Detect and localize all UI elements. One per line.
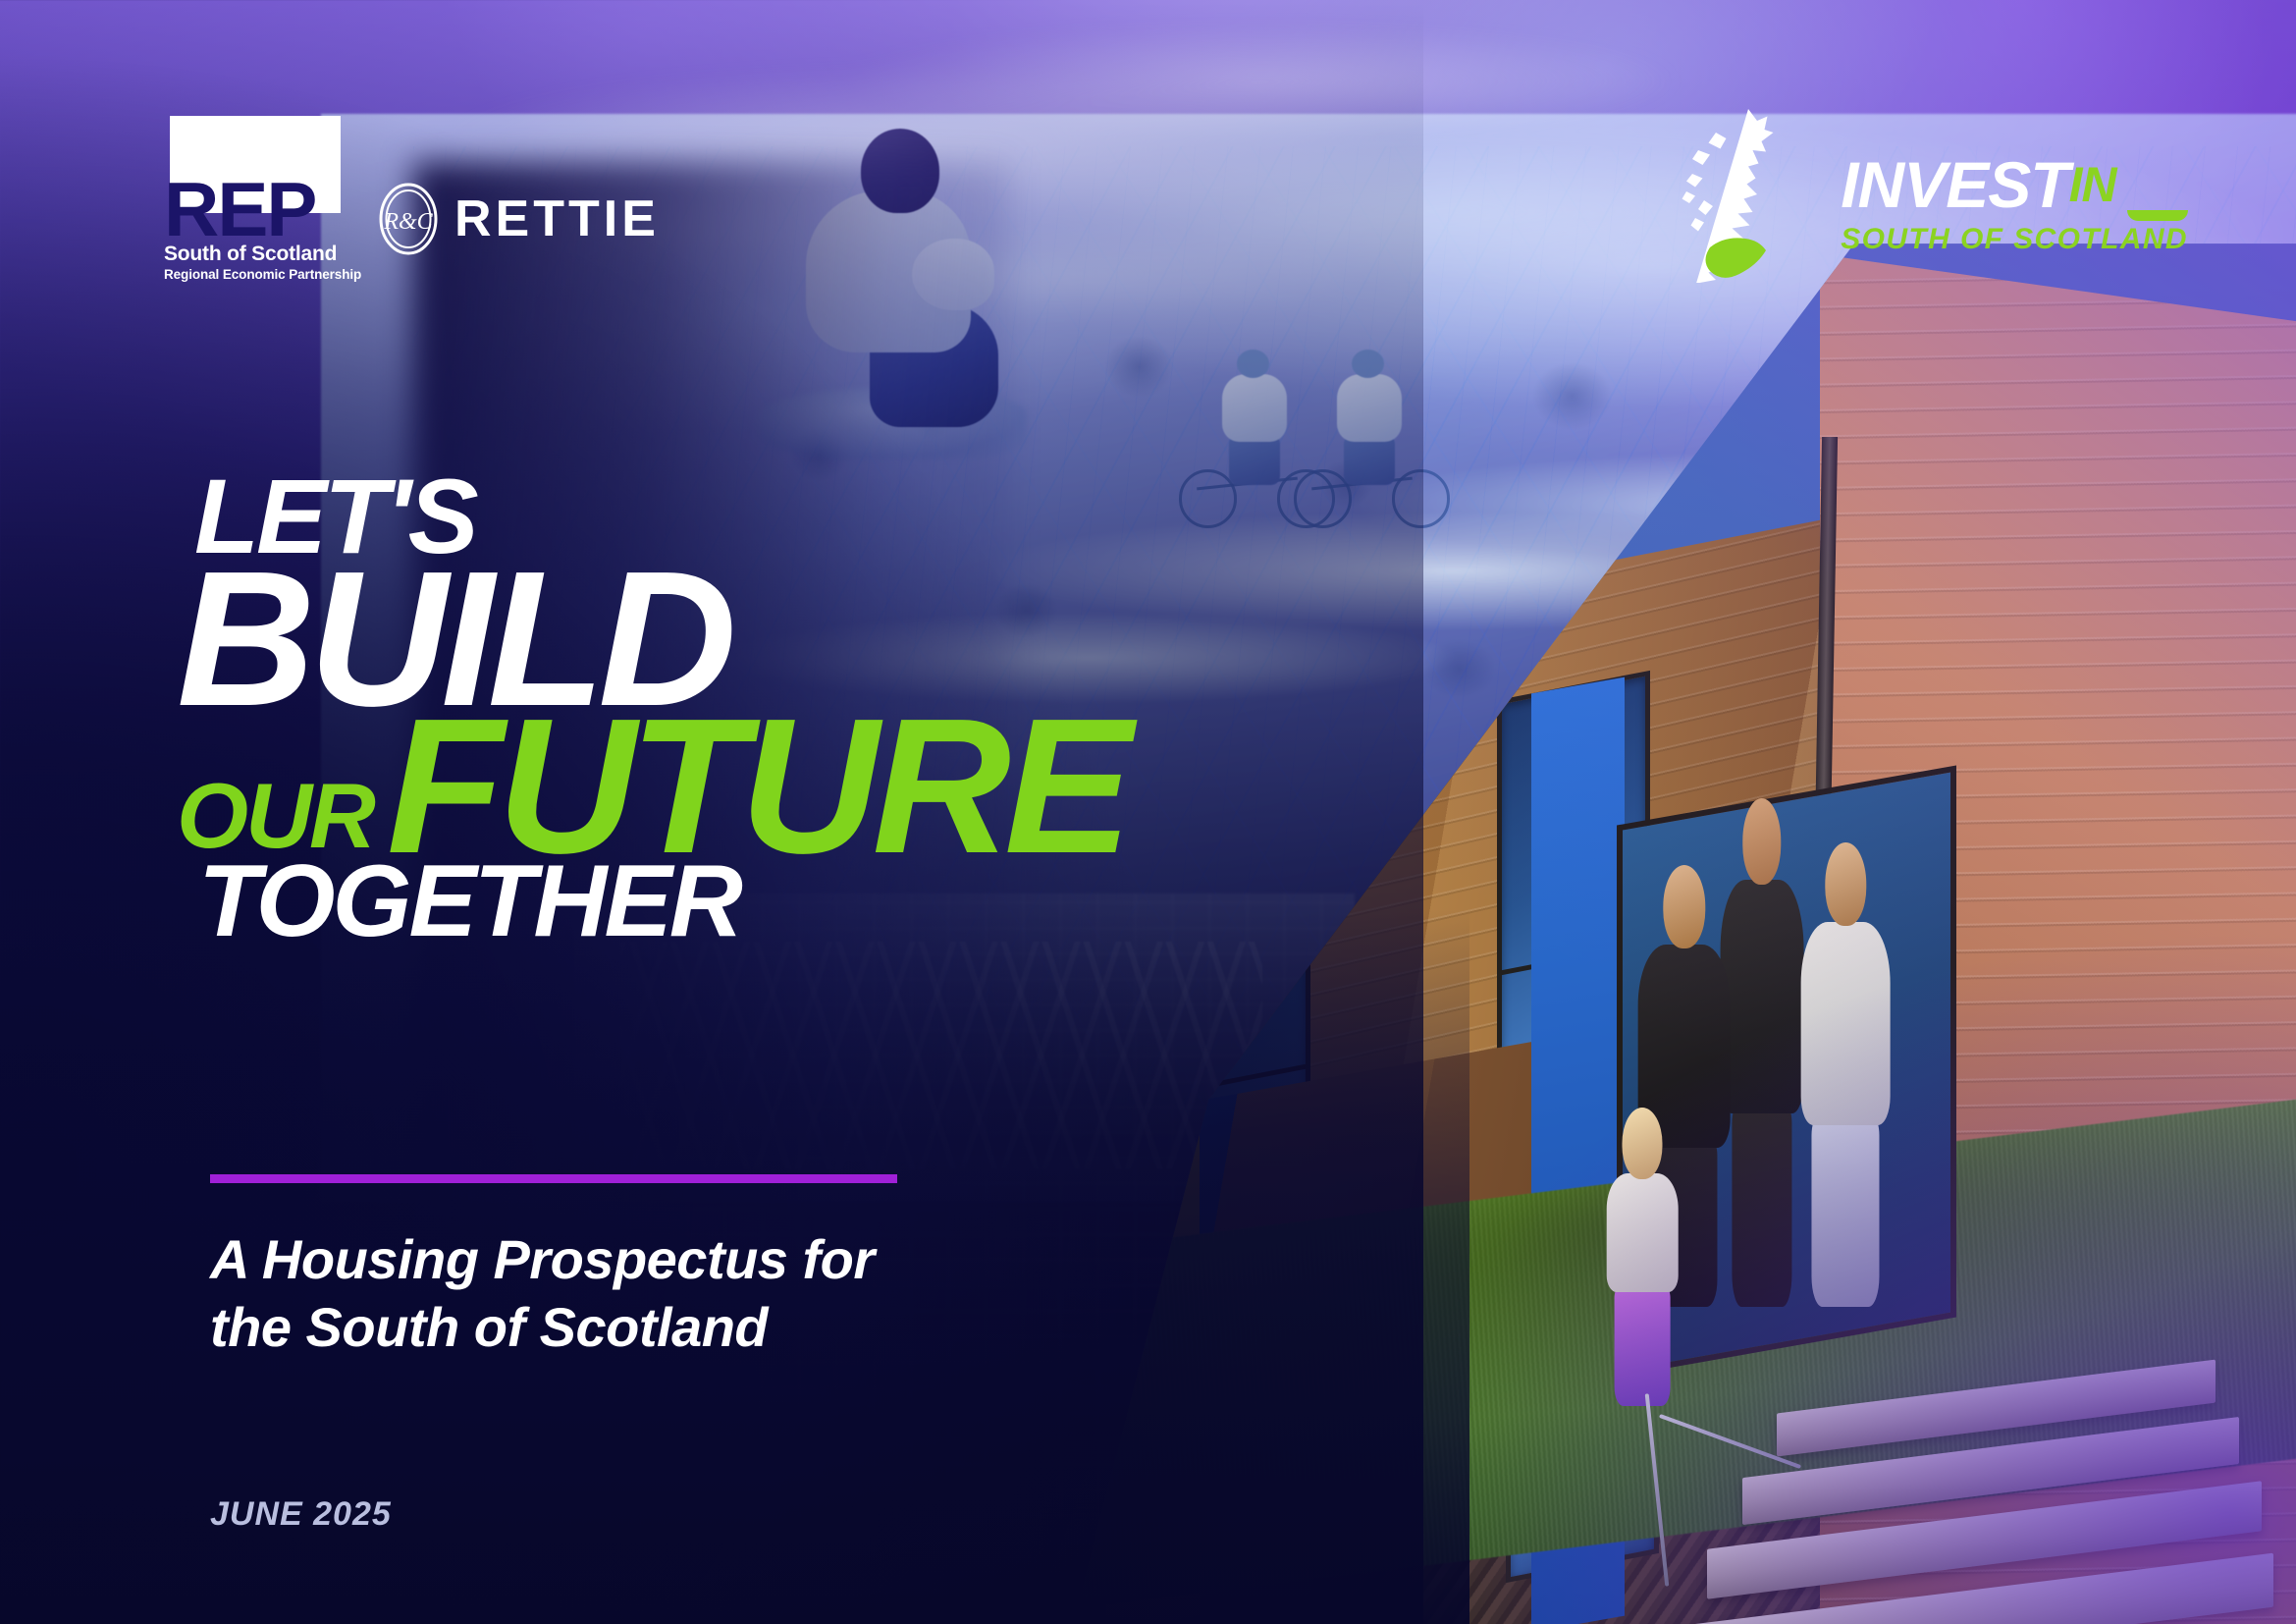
invest-in-logo[interactable]: INVESTIN SOUTH OF SCOTLAND [1672, 106, 2188, 283]
rep-logo[interactable]: REP South of Scotland Regional Economic … [164, 116, 341, 282]
rettie-monogram-icon: R&C [378, 182, 439, 256]
invest-in-tagline: SOUTH OF SCOTLAND [1841, 223, 2188, 256]
rettie-logo[interactable]: R&C RETTIE [378, 182, 660, 256]
page-title: LET'S BUILD OUR FUTURE TOGETHER [177, 471, 1126, 946]
invest-in-primary: INVESTIN [1841, 154, 2188, 216]
rep-logo-line2: Regional Economic Partnership [164, 267, 341, 282]
invest-in-underline-swoosh [2127, 210, 2188, 221]
subtitle-line-1: A Housing Prospectus for [210, 1225, 875, 1293]
purple-divider-rule [210, 1174, 897, 1183]
scotland-map-icon [1672, 106, 1819, 283]
invest-word: INVEST [1841, 148, 2068, 221]
publication-date: JUNE 2025 [210, 1495, 392, 1534]
in-word: IN [2069, 157, 2116, 212]
subtitle-line-2: the South of Scotland [210, 1293, 875, 1361]
rettie-wordmark: RETTIE [454, 189, 660, 248]
invest-in-wordmark: INVESTIN SOUTH OF SCOTLAND [1841, 133, 2188, 256]
svg-text:R&C: R&C [383, 209, 433, 235]
cover-subtitle: A Housing Prospectus for the South of Sc… [210, 1225, 875, 1362]
rep-acronym: REP [164, 171, 341, 247]
report-cover-page: REP South of Scotland Regional Economic … [0, 0, 2296, 1624]
headline-our: OUR [177, 777, 373, 856]
rep-logo-mark: REP [164, 116, 341, 239]
